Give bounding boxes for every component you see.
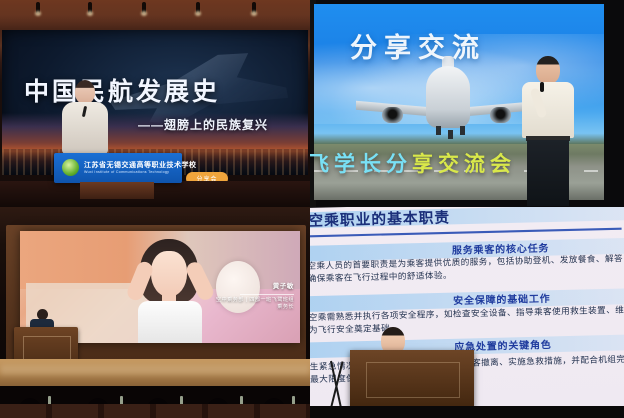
panel-top-left: 中国民航发展史 ——翅膀上的民族复兴 分享会 江苏省无锡交通高等职业技术学校 W… [0, 0, 310, 207]
face [151, 251, 187, 297]
seat-row [0, 404, 310, 418]
fuselage [426, 66, 470, 128]
banner-text-cyan: 飞学长分 [310, 153, 412, 176]
lectern-base [80, 182, 154, 199]
led-wall-title: 分享交流 [350, 26, 486, 65]
landing-gear [460, 126, 465, 135]
banner-text-yellow: 享交流会 [412, 153, 516, 176]
right-engine [490, 107, 511, 123]
speaker-figure [62, 80, 108, 154]
audience-silhouettes [0, 386, 310, 418]
section-body-1-line-2: 确保乘客在飞行过程中的舒适体验。 [310, 270, 452, 286]
mic-stand-icon [326, 356, 348, 408]
landing-gear [436, 126, 441, 135]
landing-gear [448, 130, 453, 139]
caption-divider [240, 294, 294, 295]
school-name-cn: 江苏省无锡交通高等职业技术学校 [84, 160, 197, 170]
lectern [350, 350, 474, 408]
airplane-front-view [364, 66, 534, 136]
microphone-icon [540, 82, 544, 92]
section-subtitle-2: 安全保障的基础工作 [453, 290, 551, 307]
caption-role-line-1: 空中乘务部 | 四部一班飞鹭班组 [216, 297, 294, 304]
stage-floor [310, 406, 624, 418]
caption-name: 黄子敏 [216, 283, 294, 291]
panel-top-right: 分享交流 飞学长分享交流会 [310, 0, 624, 207]
male-speaker-figure [520, 56, 576, 206]
blouse [138, 301, 202, 343]
slide-subtitle: ——翅膀上的民族复兴 [138, 116, 268, 133]
speaker-trousers [527, 140, 569, 206]
school-logo-icon [62, 159, 79, 176]
panel-bottom-left: 黄子敏 空中乘务部 | 四部一班飞鹭班组 乘务长 [0, 207, 310, 418]
speaker-head [75, 80, 95, 104]
speaker-head [536, 56, 560, 84]
photo-collage: 中国民航发展史 ——翅膀上的民族复兴 分享会 江苏省无锡交通高等职业技术学校 W… [0, 0, 624, 418]
school-name-en: Wuxi Institute of Communications Technol… [84, 170, 169, 174]
video-caption: 黄子敏 空中乘务部 | 四部一班飞鹭班组 乘务长 [216, 283, 294, 310]
left-engine [382, 107, 403, 123]
caption-role-line-2: 乘务长 [216, 304, 294, 311]
slide-header: 空乘职业的基本职责 [310, 207, 450, 231]
slide-title: 中国民航发展史 [24, 72, 220, 108]
panel-bottom-right: 空乘职业的基本职责 服务乘客的核心任务 空乘人员的首要职责是为乘客提供优质的服务… [310, 207, 624, 418]
lectern: 江苏省无锡交通高等职业技术学校 Wuxi Institute of Commun… [54, 153, 182, 199]
flight-attendant-figure [132, 239, 210, 343]
